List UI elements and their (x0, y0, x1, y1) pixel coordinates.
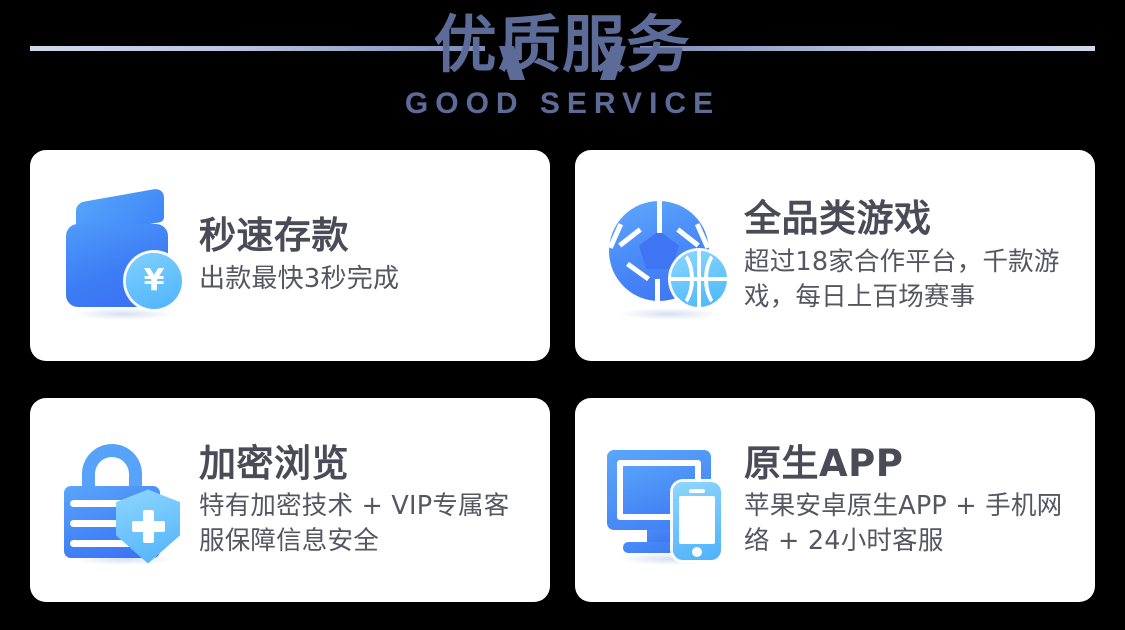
card-description: 特有加密技术 + VIP专属客服保障信息安全 (199, 489, 528, 559)
soccer-seam (657, 201, 662, 233)
smartphone-icon (673, 482, 721, 560)
card-description: 出款最快3秒完成 (199, 262, 528, 298)
card-description: 苹果安卓原生APP + 手机网络 + 24小时客服 (744, 489, 1073, 559)
page-title: 优质服务 (434, 12, 691, 79)
feature-card-encryption-text: 加密浏览 特有加密技术 + VIP专属客服保障信息安全 (199, 441, 528, 560)
promo-banner: 优质服务 GOOD SERVICE ¥ 秒速存款 出款最快3秒完成 (0, 0, 1125, 630)
card-title: 秒速存款 (199, 215, 528, 256)
yuan-coin-icon: ¥ (126, 253, 182, 309)
soccer-ball-with-basketball-icon (605, 193, 730, 318)
basketball-arc (671, 251, 694, 307)
feature-card-native-app-text: 原生APP 苹果安卓原生APP + 手机网络 + 24小时客服 (744, 441, 1073, 560)
padlock-with-shield-cross-icon (60, 438, 185, 563)
feature-card-encryption[interactable]: 加密浏览 特有加密技术 + VIP专属客服保障信息安全 (30, 398, 550, 602)
feature-card-grid: ¥ 秒速存款 出款最快3秒完成 (30, 150, 1095, 602)
wallet-with-yuan-coin-icon: ¥ (60, 193, 185, 318)
soccer-seam (676, 228, 700, 248)
icon-shadow (75, 308, 173, 320)
card-title: 加密浏览 (199, 443, 528, 484)
feature-card-native-app[interactable]: 原生APP 苹果安卓原生APP + 手机网络 + 24小时客服 (575, 398, 1095, 602)
header: 优质服务 GOOD SERVICE (0, 0, 1125, 146)
basketball-icon (671, 251, 727, 307)
monitor-with-smartphone-icon (605, 438, 730, 563)
card-title: 全品类游戏 (744, 198, 1073, 239)
header-text-group: 优质服务 GOOD SERVICE (0, 12, 1125, 121)
phone-speaker (689, 489, 705, 493)
feature-card-deposit[interactable]: ¥ 秒速存款 出款最快3秒完成 (30, 150, 550, 361)
card-title: 原生APP (744, 443, 1073, 484)
basketball-arc (704, 251, 727, 307)
soccer-seam (618, 228, 642, 248)
feature-card-games[interactable]: 全品类游戏 超过18家合作平台，千款游戏，每日上百场赛事 (575, 150, 1095, 361)
feature-card-deposit-text: 秒速存款 出款最快3秒完成 (199, 213, 528, 297)
page-subtitle: GOOD SERVICE (405, 87, 720, 121)
yuan-symbol: ¥ (144, 266, 165, 296)
feature-card-games-text: 全品类游戏 超过18家合作平台，千款游戏，每日上百场赛事 (744, 196, 1073, 315)
phone-screen (679, 496, 715, 544)
icon-shadow (620, 308, 718, 320)
soccer-seam (655, 279, 660, 301)
card-description: 超过18家合作平台，千款游戏，每日上百场赛事 (744, 245, 1073, 315)
cross-icon (132, 521, 165, 532)
phone-home-button (692, 547, 702, 557)
